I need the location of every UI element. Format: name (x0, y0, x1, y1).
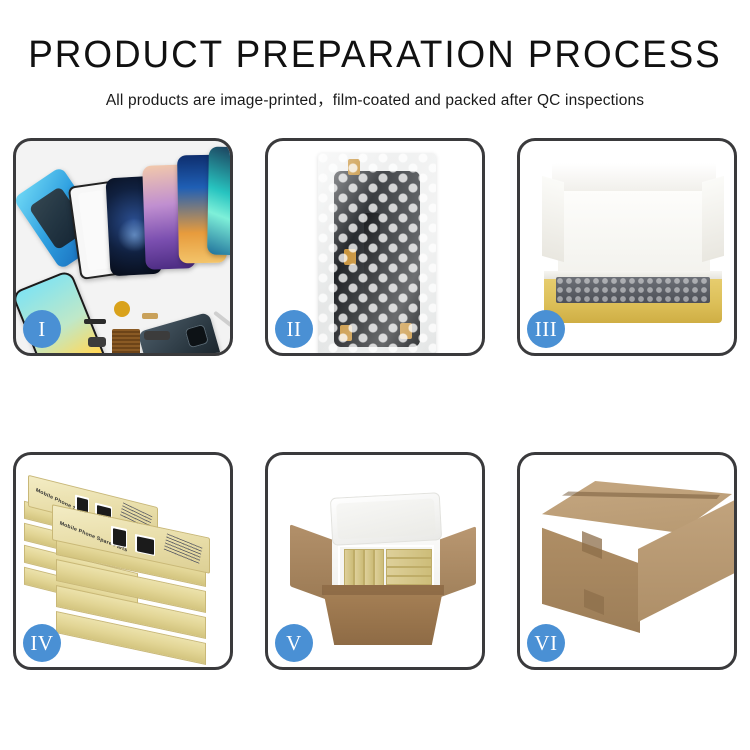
step-badge-1: I (23, 310, 61, 348)
box-flap-right (702, 176, 724, 262)
plastic-sheen (318, 153, 436, 353)
page-title: PRODUCT PREPARATION PROCESS (11, 36, 739, 76)
process-step-grid: I II (13, 138, 737, 670)
box-label-window-front-1 (111, 526, 127, 548)
packed-box-4 (374, 549, 384, 587)
packed-box-3 (364, 549, 374, 587)
box-flap-left (542, 176, 564, 262)
part-speaker-coil (114, 301, 130, 317)
bubble-wrap-lining (556, 277, 710, 303)
part-screwdriver (213, 311, 230, 328)
packed-box-2 (354, 549, 364, 587)
page-subtitle: All products are image-printed，film-coat… (0, 88, 750, 110)
process-step-panel-2[interactable]: II (265, 138, 485, 356)
open-retail-box (538, 163, 728, 331)
packed-box-1 (344, 549, 354, 587)
step-badge-5: V (275, 624, 313, 662)
packed-box-5 (386, 549, 432, 558)
part-logic-board (112, 329, 140, 353)
carton-body-top-edge (322, 585, 444, 595)
step-badge-4: IV (23, 624, 61, 662)
box-foam-backing (558, 191, 710, 283)
foam-box-lid (330, 492, 442, 546)
box-label-window-front-2 (135, 534, 155, 556)
step-badge-6: VI (527, 624, 565, 662)
process-step-panel-4[interactable]: Mobile Phone Spare Parts Mobile Phone Sp… (13, 452, 233, 670)
process-step-panel-5[interactable]: V (265, 452, 485, 670)
sealed-shipping-carton (542, 481, 732, 641)
box-label-spec-lines-front (164, 533, 203, 564)
process-step-panel-3[interactable]: III (517, 138, 737, 356)
packed-box-7 (386, 567, 432, 576)
step-badge-2: II (275, 310, 313, 348)
shipping-carton-open (288, 473, 478, 653)
part-gold-flex (142, 313, 158, 319)
process-step-panel-6[interactable]: VI (517, 452, 737, 670)
product-preparation-process-infographic: PRODUCT PREPARATION PROCESS All products… (0, 0, 750, 750)
foam-insulated-box (332, 495, 440, 593)
part-flex-cable-left (88, 337, 106, 347)
phone-teal-display (207, 147, 230, 256)
header: PRODUCT PREPARATION PROCESS All products… (0, 36, 750, 110)
part-flex-cable-right (144, 331, 170, 340)
part-earpiece-mesh (84, 319, 106, 324)
process-step-panel-1[interactable]: I (13, 138, 233, 356)
packed-box-8 (386, 576, 432, 585)
packed-box-6 (386, 558, 432, 567)
step-badge-3: III (527, 310, 565, 348)
bubble-wrap-bag (318, 153, 436, 353)
